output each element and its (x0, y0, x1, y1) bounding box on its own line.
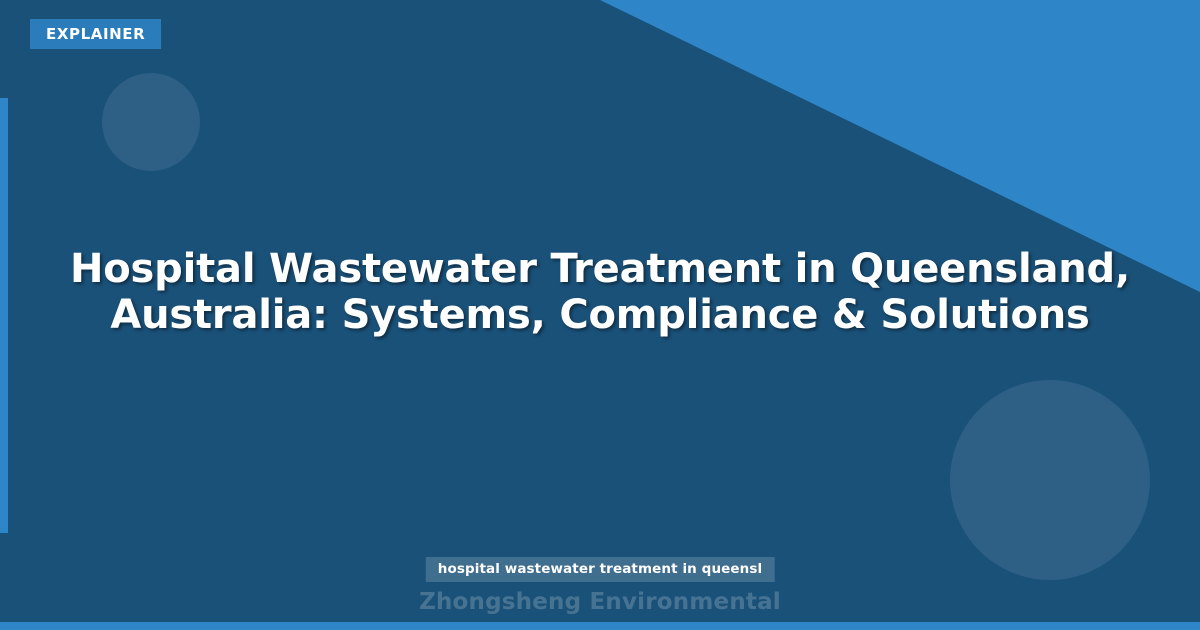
page-title: Hospital Wastewater Treatment in Queensl… (60, 246, 1140, 339)
bottom-accent-bar (0, 622, 1200, 630)
decorative-circle-top-left (102, 73, 200, 171)
keyword-tag: hospital wastewater treatment in queensl (426, 557, 775, 582)
footer-bar: Zhongsheng Environmental (0, 583, 1200, 622)
brand-name: Zhongsheng Environmental (419, 591, 781, 614)
left-accent-bar (0, 98, 8, 533)
keyword-tag-label: hospital wastewater treatment in queensl (438, 563, 763, 577)
category-badge-label: EXPLAINER (46, 27, 145, 42)
social-share-card: EXPLAINER Hospital Wastewater Treatment … (0, 0, 1200, 630)
decorative-circle-bottom-right (950, 380, 1150, 580)
category-badge: EXPLAINER (30, 19, 161, 49)
